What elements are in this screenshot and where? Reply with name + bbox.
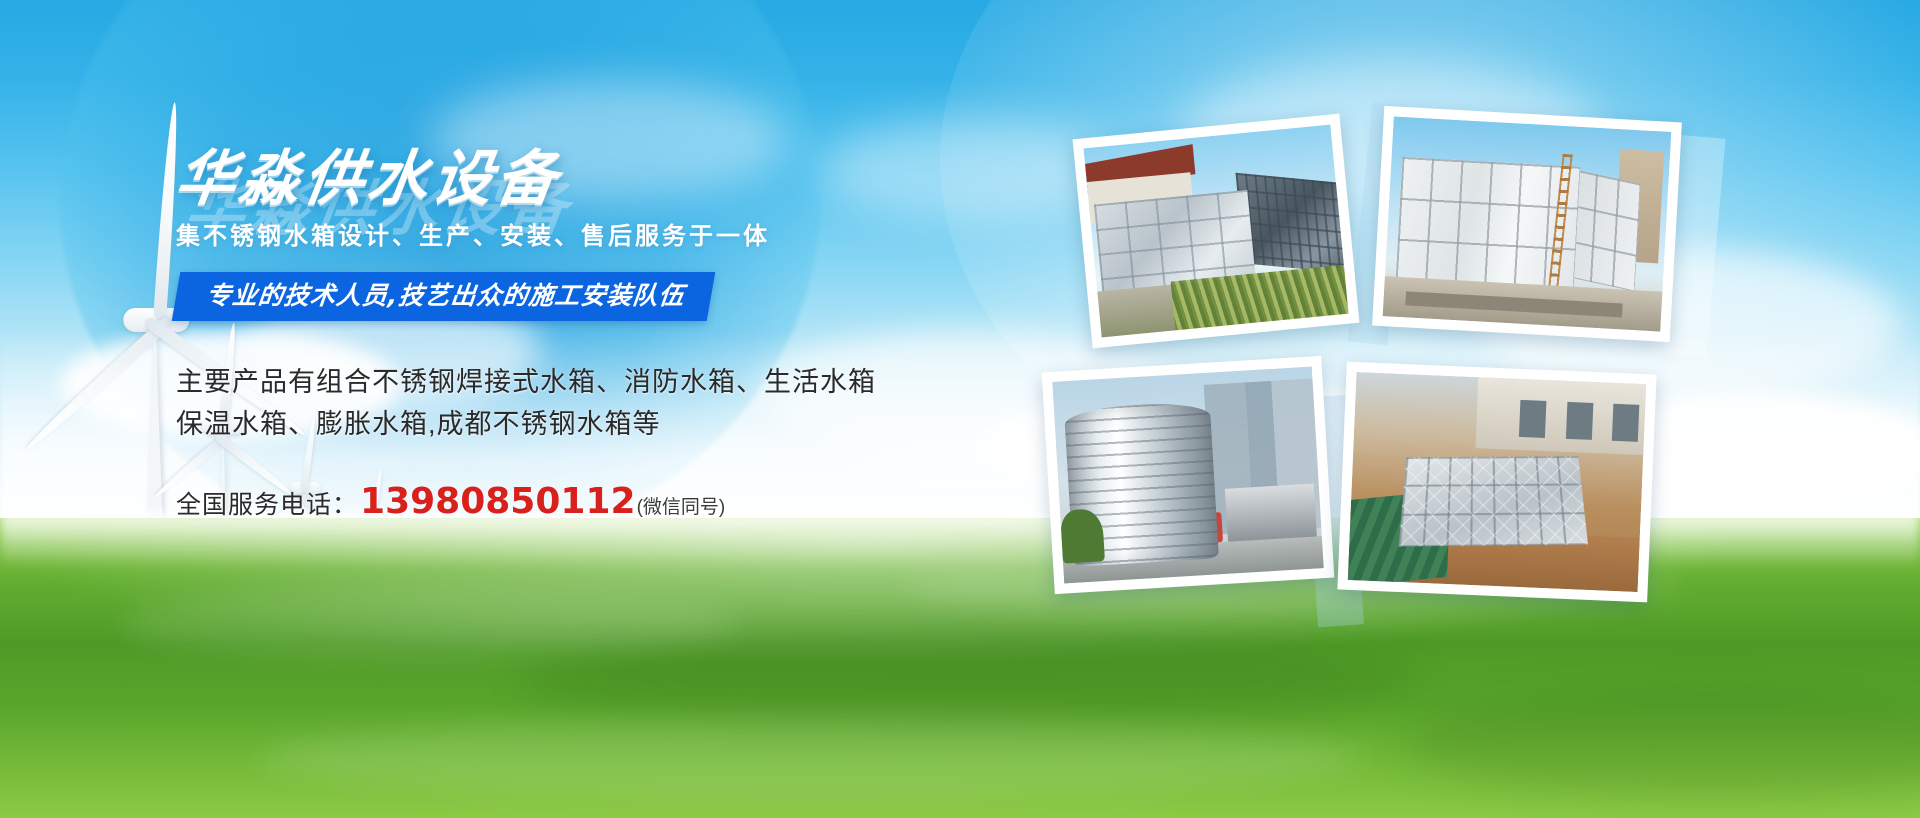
photo-window bbox=[1612, 404, 1640, 442]
product-photo[interactable] bbox=[1337, 362, 1656, 603]
grass-highlight bbox=[260, 718, 1360, 798]
tank-panel-emboss bbox=[1399, 456, 1588, 546]
status-badge: 专业的技术人员,技艺出众的施工安装队伍 bbox=[172, 272, 715, 321]
product-photo[interactable] bbox=[1372, 106, 1682, 342]
tagline: 集不锈钢水箱设计、生产、安装、售后服务于一体 bbox=[176, 220, 976, 254]
banner-copy-block: 华淼供水设备 华淼供水设备 集不锈钢水箱设计、生产、安装、售后服务于一体 专业的… bbox=[176, 146, 976, 522]
photo-truck bbox=[1225, 484, 1316, 542]
product-photo-image bbox=[1383, 116, 1672, 331]
badge-wrapper: 专业的技术人员,技艺出众的施工安装队伍 bbox=[176, 272, 976, 321]
grass-shadow bbox=[1400, 688, 1920, 798]
page-title: 华淼供水设备 bbox=[171, 146, 980, 212]
product-photo-collage bbox=[1060, 96, 1860, 696]
hotline-number[interactable]: 13980850112 bbox=[360, 481, 636, 522]
hotline-note: (微信同号) bbox=[637, 492, 726, 519]
hotline-row: 全国服务电话： 13980850112 (微信同号) bbox=[176, 481, 976, 522]
product-photo[interactable] bbox=[1073, 114, 1360, 349]
description-line: 主要产品有组合不锈钢焊接式水箱、消防水箱、生活水箱 bbox=[176, 361, 976, 403]
product-photo[interactable] bbox=[1042, 356, 1335, 594]
promo-banner: 华淼供水设备 华淼供水设备 集不锈钢水箱设计、生产、安装、售后服务于一体 专业的… bbox=[0, 0, 1920, 818]
description-line: 保温水箱、膨胀水箱,成都不锈钢水箱等 bbox=[176, 403, 976, 445]
tank-side-face bbox=[1569, 169, 1641, 291]
underground-tank-body bbox=[1399, 456, 1588, 546]
status-badge-label: 专业的技术人员,技艺出众的施工安装队伍 bbox=[204, 281, 686, 311]
hotline-label: 全国服务电话： bbox=[176, 485, 358, 521]
photo-window bbox=[1566, 402, 1594, 440]
product-description: 主要产品有组合不锈钢焊接式水箱、消防水箱、生活水箱 保温水箱、膨胀水箱,成都不锈… bbox=[176, 361, 976, 445]
product-photo-image bbox=[1348, 372, 1646, 592]
product-photo-image bbox=[1083, 125, 1348, 338]
grass-highlight bbox=[120, 588, 740, 658]
product-photo-image bbox=[1052, 366, 1324, 583]
photo-window bbox=[1519, 400, 1547, 438]
